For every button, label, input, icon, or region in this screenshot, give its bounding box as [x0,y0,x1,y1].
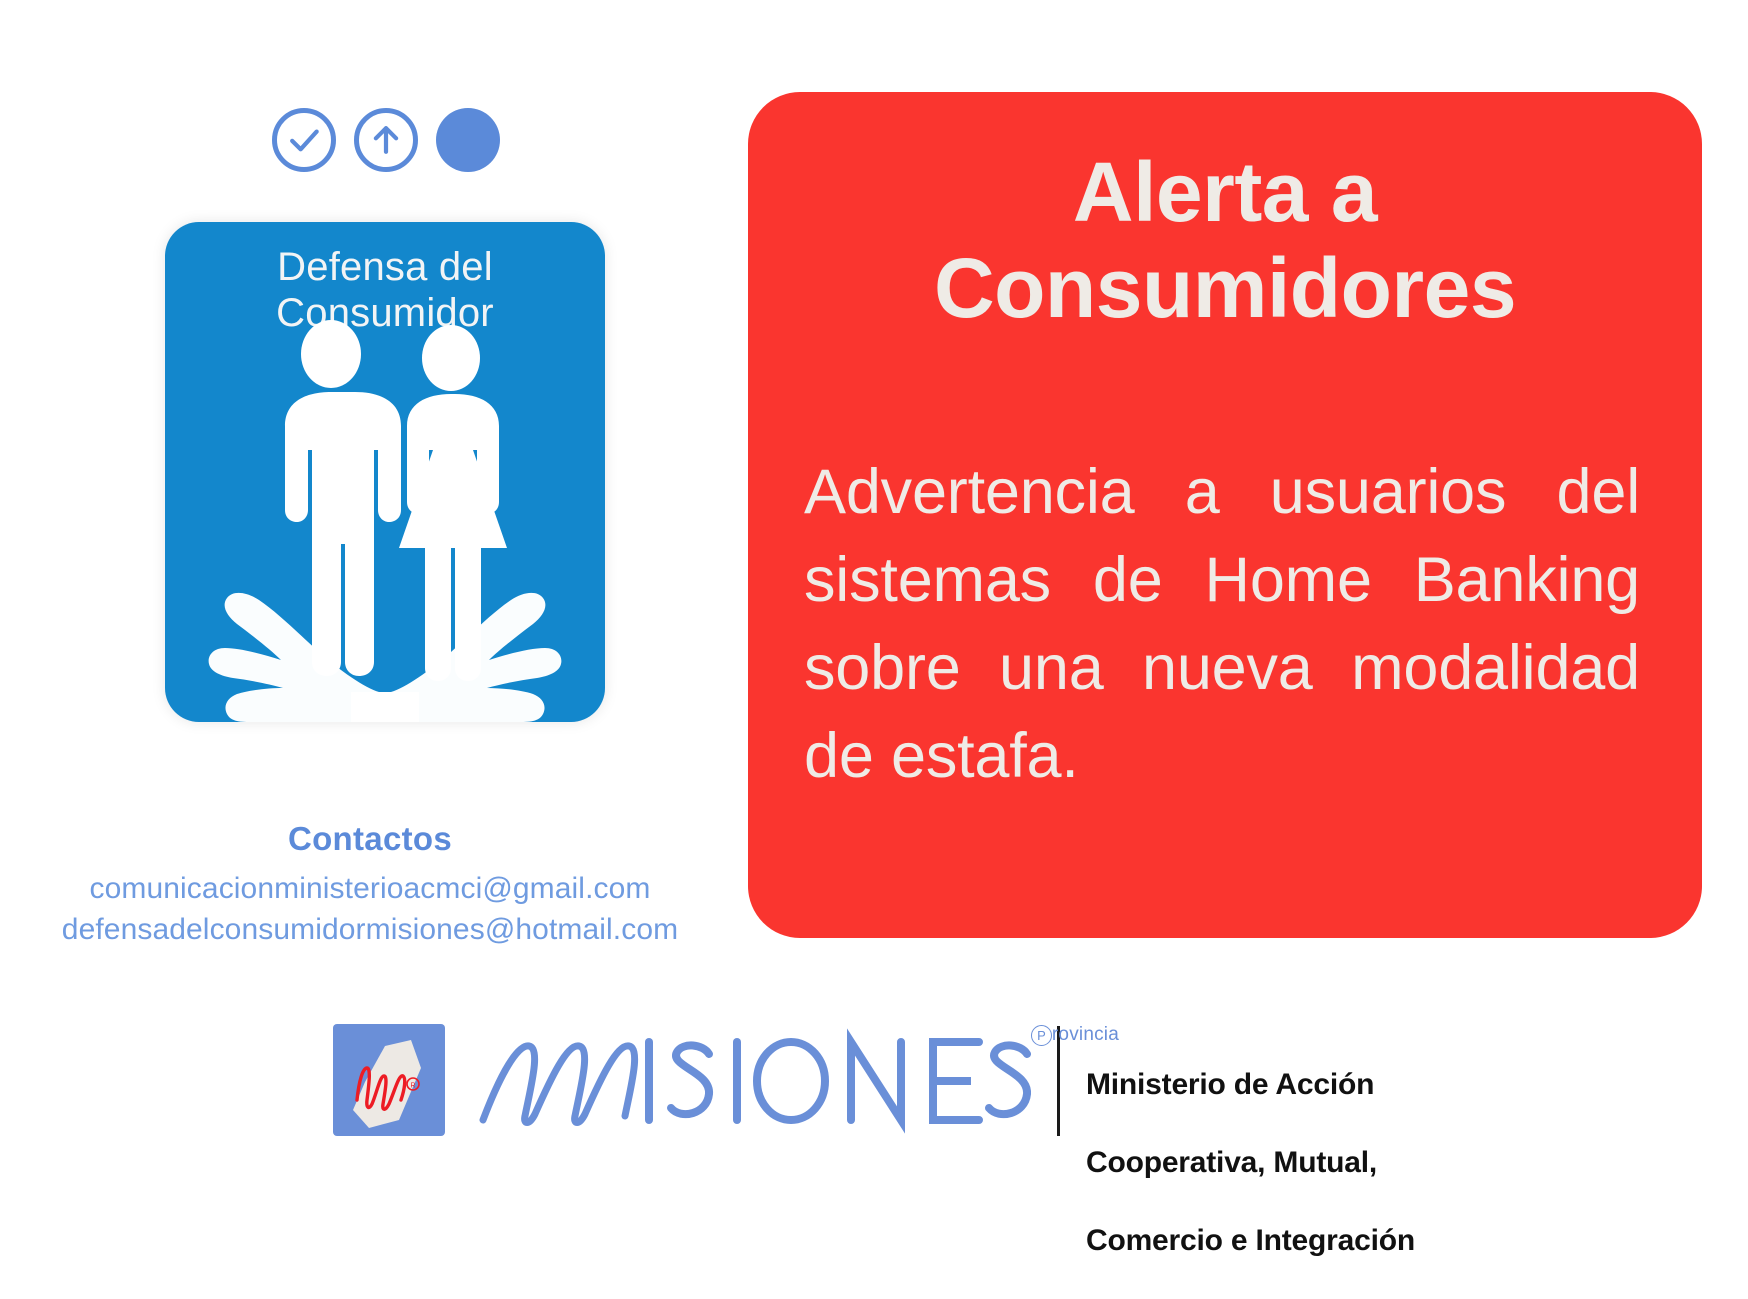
footer: R P [0,1020,1748,1180]
ministry-name: Ministerio de Acción Cooperativa, Mutual… [1086,1020,1415,1299]
ministry-line-3: Comercio e Integración [1086,1221,1415,1260]
two-people-on-hands-icon [165,222,605,722]
misiones-province-map-icon: R [333,1024,445,1136]
provincia-label: rovincia [1052,1024,1119,1046]
ministry-line-1: Ministerio de Acción [1086,1065,1415,1104]
alert-card: Alerta a Consumidores Advertencia a usua… [748,92,1702,938]
svg-text:R: R [410,1083,415,1090]
consumer-logo-card: Defensa del Consumidor [165,222,605,722]
alert-title-line1: Alerta a [804,144,1646,240]
contacts-title: Contactos [0,820,740,858]
filled-circle-icon [436,108,500,172]
left-column: Defensa del Consumidor Contactos comunic… [0,0,740,1000]
icon-row [272,108,500,172]
registered-p-icon: P [1031,1025,1052,1046]
provincia-superscript: P rovincia [1031,1024,1119,1046]
arrow-up-circle-icon [354,108,418,172]
alert-body-text: Advertencia a usuarios del sistemas de H… [804,448,1646,800]
check-circle-icon [272,108,336,172]
misiones-wordmark: P rovincia [471,1020,1031,1138]
contact-email-hotmail[interactable]: defensadelconsumidormisiones@hotmail.com [0,909,740,950]
contact-email-gmail[interactable]: comunicacionministerioacmci@gmail.com [0,868,740,909]
alert-title-line2: Consumidores [804,240,1646,336]
contacts-block: Contactos comunicacionministerioacmci@gm… [0,820,740,950]
alert-title: Alerta a Consumidores [804,144,1646,336]
ministry-line-2: Cooperativa, Mutual, [1086,1143,1415,1182]
